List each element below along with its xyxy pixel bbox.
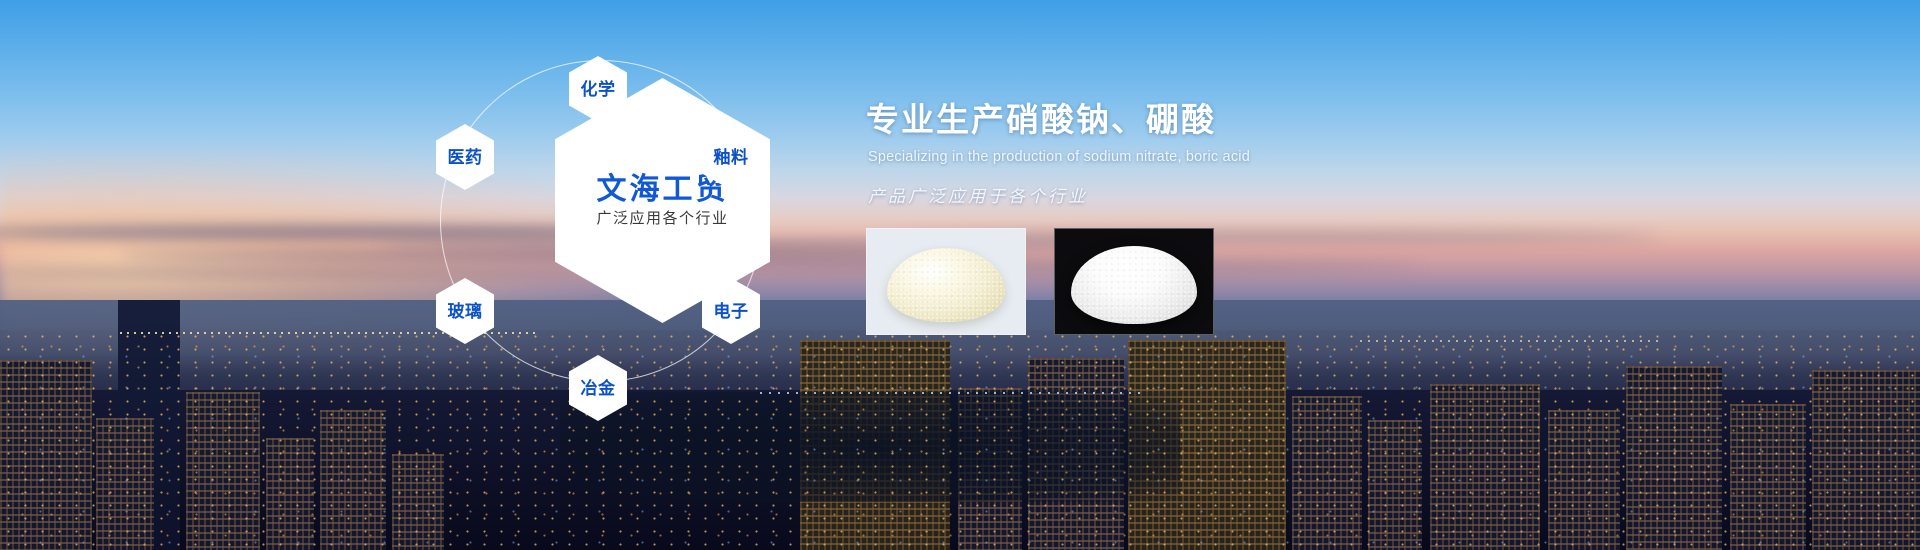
- company-slogan: 广泛应用各个行业: [596, 211, 728, 226]
- product-photo-strip: [866, 228, 1214, 335]
- headline-english-subtitle: Specializing in the production of sodium…: [868, 149, 1586, 166]
- hex-label-glaze: 釉料: [714, 149, 749, 166]
- headline-text: 专业生产硝酸钠、硼酸: [866, 100, 1586, 140]
- company-name: 文海工贸: [597, 175, 729, 205]
- city-lights: [0, 330, 1920, 550]
- hex-label-electronics: 电子: [714, 303, 749, 320]
- hex-label-glass: 玻璃: [448, 303, 483, 320]
- promo-banner: 文海工贸 广泛应用各个行业 化学 釉料 电子 冶金 玻璃 医药 专业生产硝酸钠、…: [0, 0, 1920, 550]
- product-photo-sodium-nitrate[interactable]: [866, 228, 1026, 335]
- powder-heap: [1071, 246, 1197, 324]
- industry-hexagon-cluster: 文海工贸 广泛应用各个行业 化学 釉料 电子 冶金 玻璃 医药: [430, 30, 830, 450]
- powder-grain-texture: [887, 248, 1005, 322]
- hex-label-medicine: 医药: [448, 149, 483, 166]
- powder-grain-texture: [1071, 246, 1197, 324]
- product-photo-boric-acid[interactable]: [1054, 228, 1214, 335]
- hex-label-chemistry: 化学: [581, 81, 616, 98]
- powder-heap: [887, 248, 1005, 322]
- hex-label-metallurgy: 冶金: [581, 380, 616, 397]
- bridge-lights: [1360, 340, 1660, 342]
- tagline-text: 产品广泛应用于各个行业: [868, 187, 1586, 207]
- headline-block: 专业生产硝酸钠、硼酸 Specializing in the productio…: [866, 100, 1586, 207]
